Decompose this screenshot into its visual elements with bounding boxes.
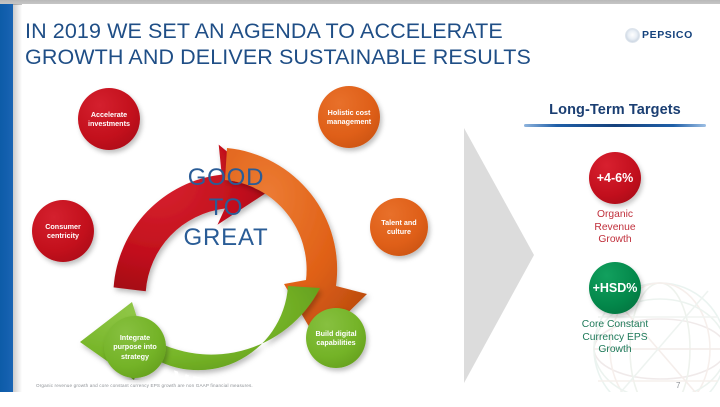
long-term-targets-panel: Long-Term Targets +4-6% Organic Revenue …: [520, 102, 710, 382]
target-value-core-constant-currency-eps-growth: +HSD%: [589, 262, 641, 314]
target-caption-line-2: Currency EPS: [520, 332, 710, 345]
target-caption-line-1: Organic: [520, 209, 710, 222]
target-caption-organic-revenue-growth: Organic Revenue Growth: [520, 209, 710, 247]
page-title: IN 2019 WE SET AN AGENDA TO ACCELERATE G…: [25, 18, 585, 70]
target-organic-revenue-growth: +4-6% Organic Revenue Growth: [520, 152, 710, 247]
footnote-text: Organic revenue growth and core constant…: [36, 383, 253, 388]
target-caption-line-2: Revenue: [520, 222, 710, 235]
cycle-bubble-holistic-cost-management: Holistic cost management: [318, 86, 380, 148]
pepsico-globe-icon: [625, 28, 640, 43]
target-caption-line-3: Growth: [520, 234, 710, 247]
page-title-line-2: GROWTH AND DELIVER SUSTAINABLE RESULTS: [25, 44, 585, 70]
cycle-center-line-2: TO: [150, 193, 302, 223]
cycle-bubble-integrate-purpose-into-strategy: Integrate purpose into strategy: [104, 316, 166, 378]
pepsico-logo-text: PEPSICO: [642, 29, 693, 41]
target-caption-line-3: Growth: [520, 344, 710, 357]
long-term-targets-heading: Long-Term Targets: [520, 102, 710, 118]
cycle-bubble-talent-and-culture: Talent and culture: [370, 198, 428, 256]
page-number: 7: [676, 381, 680, 390]
good-to-great-cycle-diagram: FASTER STRONGER BETTER GOOD TO GREAT Acc…: [22, 80, 452, 380]
cycle-bubble-accelerate-investments: Accelerate investments: [78, 88, 140, 150]
target-value-organic-revenue-growth: +4-6%: [589, 152, 641, 204]
page-title-line-1: IN 2019 WE SET AN AGENDA TO ACCELERATE: [25, 18, 585, 44]
left-accent-bar-shadow: [13, 4, 22, 392]
long-term-targets-underline: [524, 124, 706, 127]
cycle-center-line-3: GREAT: [150, 223, 302, 253]
left-accent-bar: [0, 4, 13, 392]
slide-canvas: IN 2019 WE SET AN AGENDA TO ACCELERATE G…: [0, 0, 720, 407]
target-caption-core-constant-currency-eps-growth: Core Constant Currency EPS Growth: [520, 319, 710, 357]
target-core-constant-currency-eps-growth: +HSD% Core Constant Currency EPS Growth: [520, 262, 710, 357]
target-caption-line-1: Core Constant: [520, 319, 710, 332]
slide-bottom-margin: [0, 392, 720, 407]
pepsico-logo: PEPSICO: [625, 27, 713, 45]
cycle-center-text: GOOD TO GREAT: [150, 163, 302, 253]
cycle-center-line-1: GOOD: [150, 163, 302, 193]
cycle-bubble-consumer-centricity: Consumer centricity: [32, 200, 94, 262]
cycle-bubble-build-digital-capabilities: Build digital capabilities: [306, 308, 366, 368]
